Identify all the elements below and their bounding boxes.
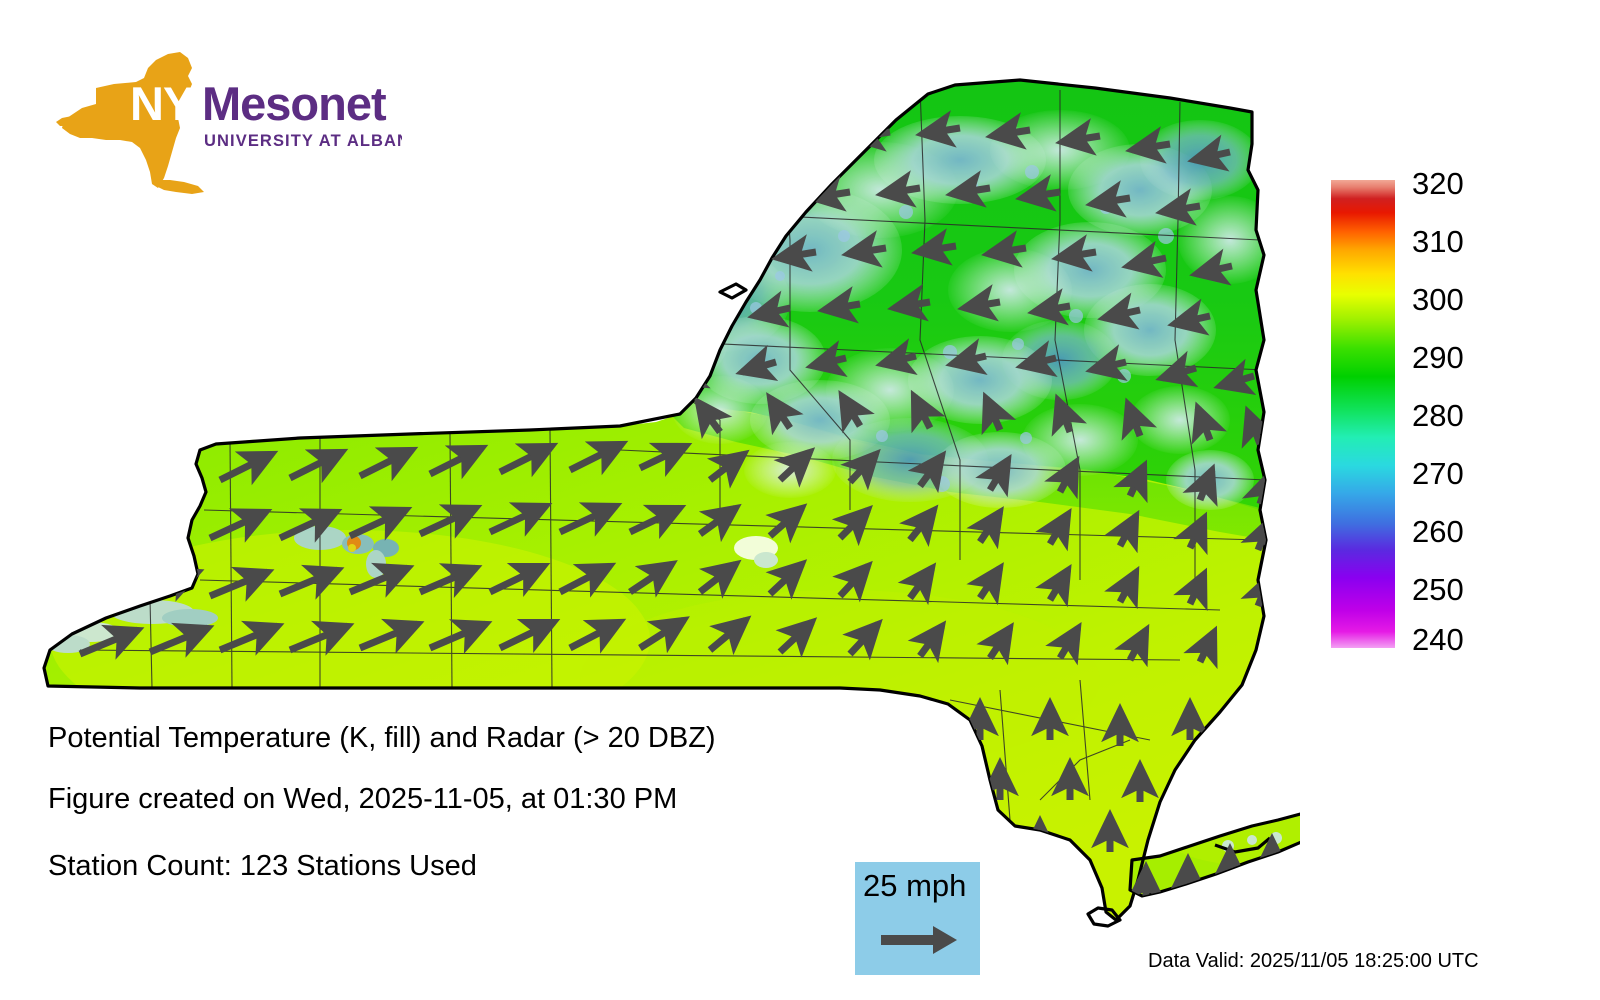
colorbar-tick-270: 270 bbox=[1412, 458, 1464, 489]
colorbar-tick-250: 250 bbox=[1412, 574, 1464, 605]
wind-scale-label: 25 mph bbox=[863, 868, 966, 904]
colorbar-tick-280: 280 bbox=[1412, 400, 1464, 431]
figure-canvas: NYS Mesonet UNIVERSITY AT ALBANY bbox=[0, 0, 1600, 1000]
colorbar bbox=[1331, 180, 1395, 648]
figure-created-text: Figure created on Wed, 2025-11-05, at 01… bbox=[48, 785, 677, 814]
colorbar-tick-260: 260 bbox=[1412, 516, 1464, 547]
data-valid-timestamp: Data Valid: 2025/11/05 18:25:00 UTC bbox=[1148, 950, 1479, 973]
colorbar-tick-300: 300 bbox=[1412, 284, 1464, 315]
colorbar-gradient bbox=[1331, 180, 1395, 648]
wind-scale-arrow-icon bbox=[881, 924, 959, 956]
colorbar-tick-240: 240 bbox=[1412, 624, 1464, 655]
colorbar-tick-290: 290 bbox=[1412, 342, 1464, 373]
station-count-text: Station Count: 123 Stations Used bbox=[48, 852, 477, 881]
figure-title: Potential Temperature (K, fill) and Rada… bbox=[48, 724, 716, 753]
colorbar-tick-310: 310 bbox=[1412, 226, 1464, 257]
colorbar-tick-320: 320 bbox=[1412, 168, 1464, 199]
wind-scale-legend: 25 mph bbox=[855, 862, 980, 975]
